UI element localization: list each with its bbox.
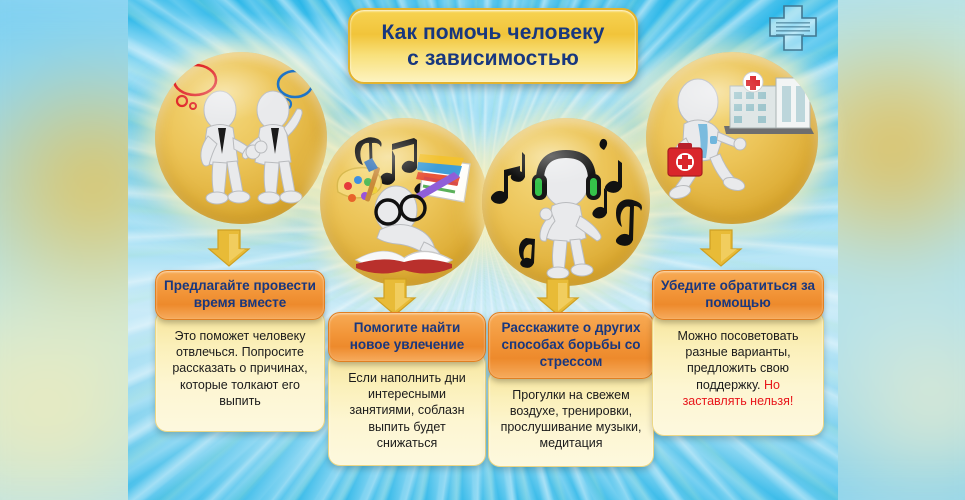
card-new-hobby: Помогите найти новое увлечение Если напо… bbox=[328, 312, 486, 466]
card-seek-help: Убедите обратиться за помощью Можно посо… bbox=[652, 270, 824, 436]
infographic-poster: Как помочь человеку с зависимостью bbox=[0, 0, 965, 500]
card-seek-help-body: Можно посоветовать разные варианты, пред… bbox=[652, 310, 824, 436]
card-seek-help-body-normal: Можно посоветовать разные варианты, пред… bbox=[677, 329, 798, 392]
card-new-hobby-heading: Помогите найти новое увлечение bbox=[328, 312, 486, 362]
circle-hobby bbox=[320, 118, 488, 286]
arrow-down-icon bbox=[207, 228, 251, 268]
card-spend-time: Предлагайте провести время вместе Это по… bbox=[155, 270, 325, 432]
page-title-line-1: Как помочь человеку bbox=[382, 21, 605, 44]
circle-conversation bbox=[155, 52, 327, 224]
card-stress-relief-body: Прогулки на свежем воздухе, тренировки, … bbox=[488, 369, 654, 467]
page-title-line-2: с зависимостью bbox=[407, 47, 579, 70]
person-with-headphones-icon bbox=[482, 118, 650, 286]
arrow-down-icon bbox=[699, 228, 743, 268]
doctor-with-hospital-icon bbox=[646, 52, 818, 224]
card-stress-relief: Расскажите о других способах борьбы со с… bbox=[488, 312, 654, 467]
two-people-talking-icon bbox=[155, 52, 327, 224]
arrow-down-icon bbox=[373, 277, 417, 317]
medical-cross-icon bbox=[760, 2, 826, 58]
card-new-hobby-body: Если наполнить дни интересными занятиями… bbox=[328, 352, 486, 466]
card-seek-help-heading: Убедите обратиться за помощью bbox=[652, 270, 824, 320]
card-spend-time-body: Это поможет человеку отвлечься. Попросит… bbox=[155, 310, 325, 432]
circle-doctor bbox=[646, 52, 818, 224]
card-spend-time-heading: Предлагайте провести время вместе bbox=[155, 270, 325, 320]
page-title: Как помочь человеку с зависимостью bbox=[348, 8, 638, 84]
circle-music bbox=[482, 118, 650, 286]
arrow-down-icon bbox=[536, 277, 580, 317]
card-stress-relief-heading: Расскажите о других способах борьбы со с… bbox=[488, 312, 654, 379]
page-title-text: Как помочь человеку с зависимостью bbox=[382, 20, 605, 71]
person-reading-book-icon bbox=[320, 118, 488, 286]
